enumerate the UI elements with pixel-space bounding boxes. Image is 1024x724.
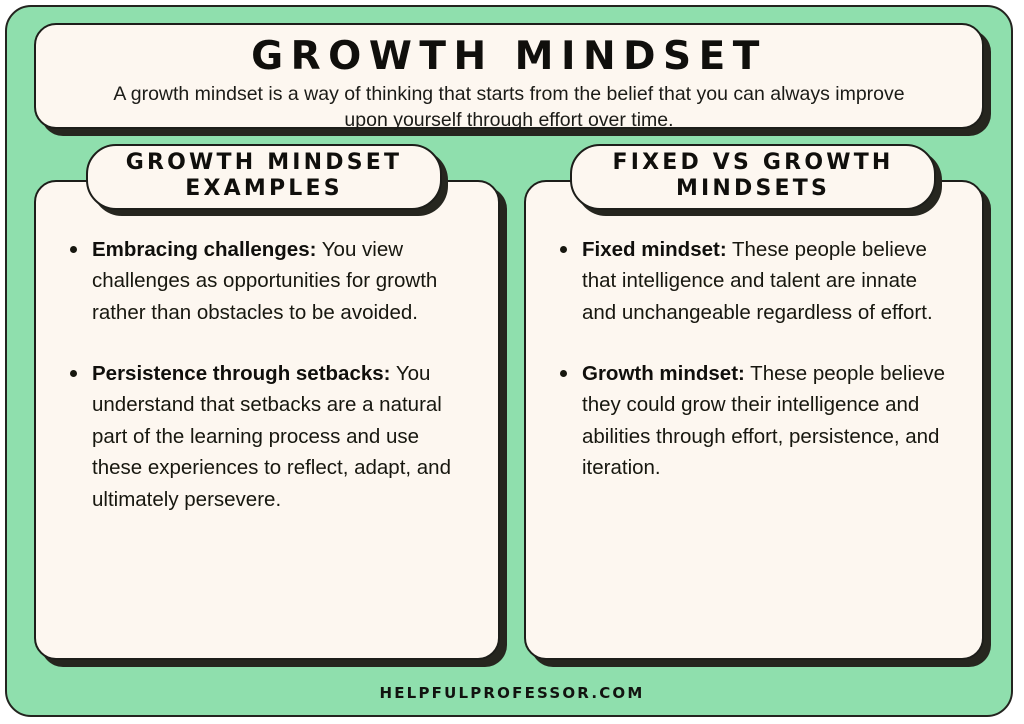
infographic-canvas: GROWTH MINDSET A growth mindset is a way…: [0, 0, 1024, 724]
section-header-pill-fixed-vs-growth-mindsets: FIXED VS GROWTH MINDSETS: [570, 144, 936, 210]
fixed-vs-growth-list: Fixed mindset: These people believe that…: [552, 234, 956, 484]
list-item: Embracing challenges: You view challenge…: [62, 234, 472, 328]
list-item: Fixed mindset: These people believe that…: [552, 234, 956, 328]
section-header-label: GROWTH MINDSET EXAMPLES: [106, 150, 422, 201]
page-title: GROWTH MINDSET: [62, 37, 956, 78]
section-header-pill-growth-mindset-examples: GROWTH MINDSET EXAMPLES: [86, 144, 442, 210]
column-card-growth-mindset-examples: Embracing challenges: You view challenge…: [34, 180, 500, 660]
bullet-lead: Fixed mindset:: [582, 238, 727, 261]
title-card: GROWTH MINDSET A growth mindset is a way…: [34, 23, 984, 129]
bullet-lead: Growth mindset:: [582, 362, 745, 385]
growth-mindset-examples-list: Embracing challenges: You view challenge…: [62, 234, 472, 515]
bullet-lead: Embracing challenges:: [92, 238, 316, 261]
bullet-lead: Persistence through setbacks:: [92, 362, 391, 385]
column-card-fixed-vs-growth-mindsets: Fixed mindset: These people believe that…: [524, 180, 984, 660]
page-subtitle: A growth mindset is a way of thinking th…: [94, 81, 924, 134]
section-header-label: FIXED VS GROWTH MINDSETS: [590, 150, 916, 201]
list-item: Growth mindset: These people believe the…: [552, 358, 956, 483]
list-item: Persistence through setbacks: You unders…: [62, 358, 472, 515]
footer-attribution: HELPFULPROFESSOR.COM: [0, 684, 1024, 702]
